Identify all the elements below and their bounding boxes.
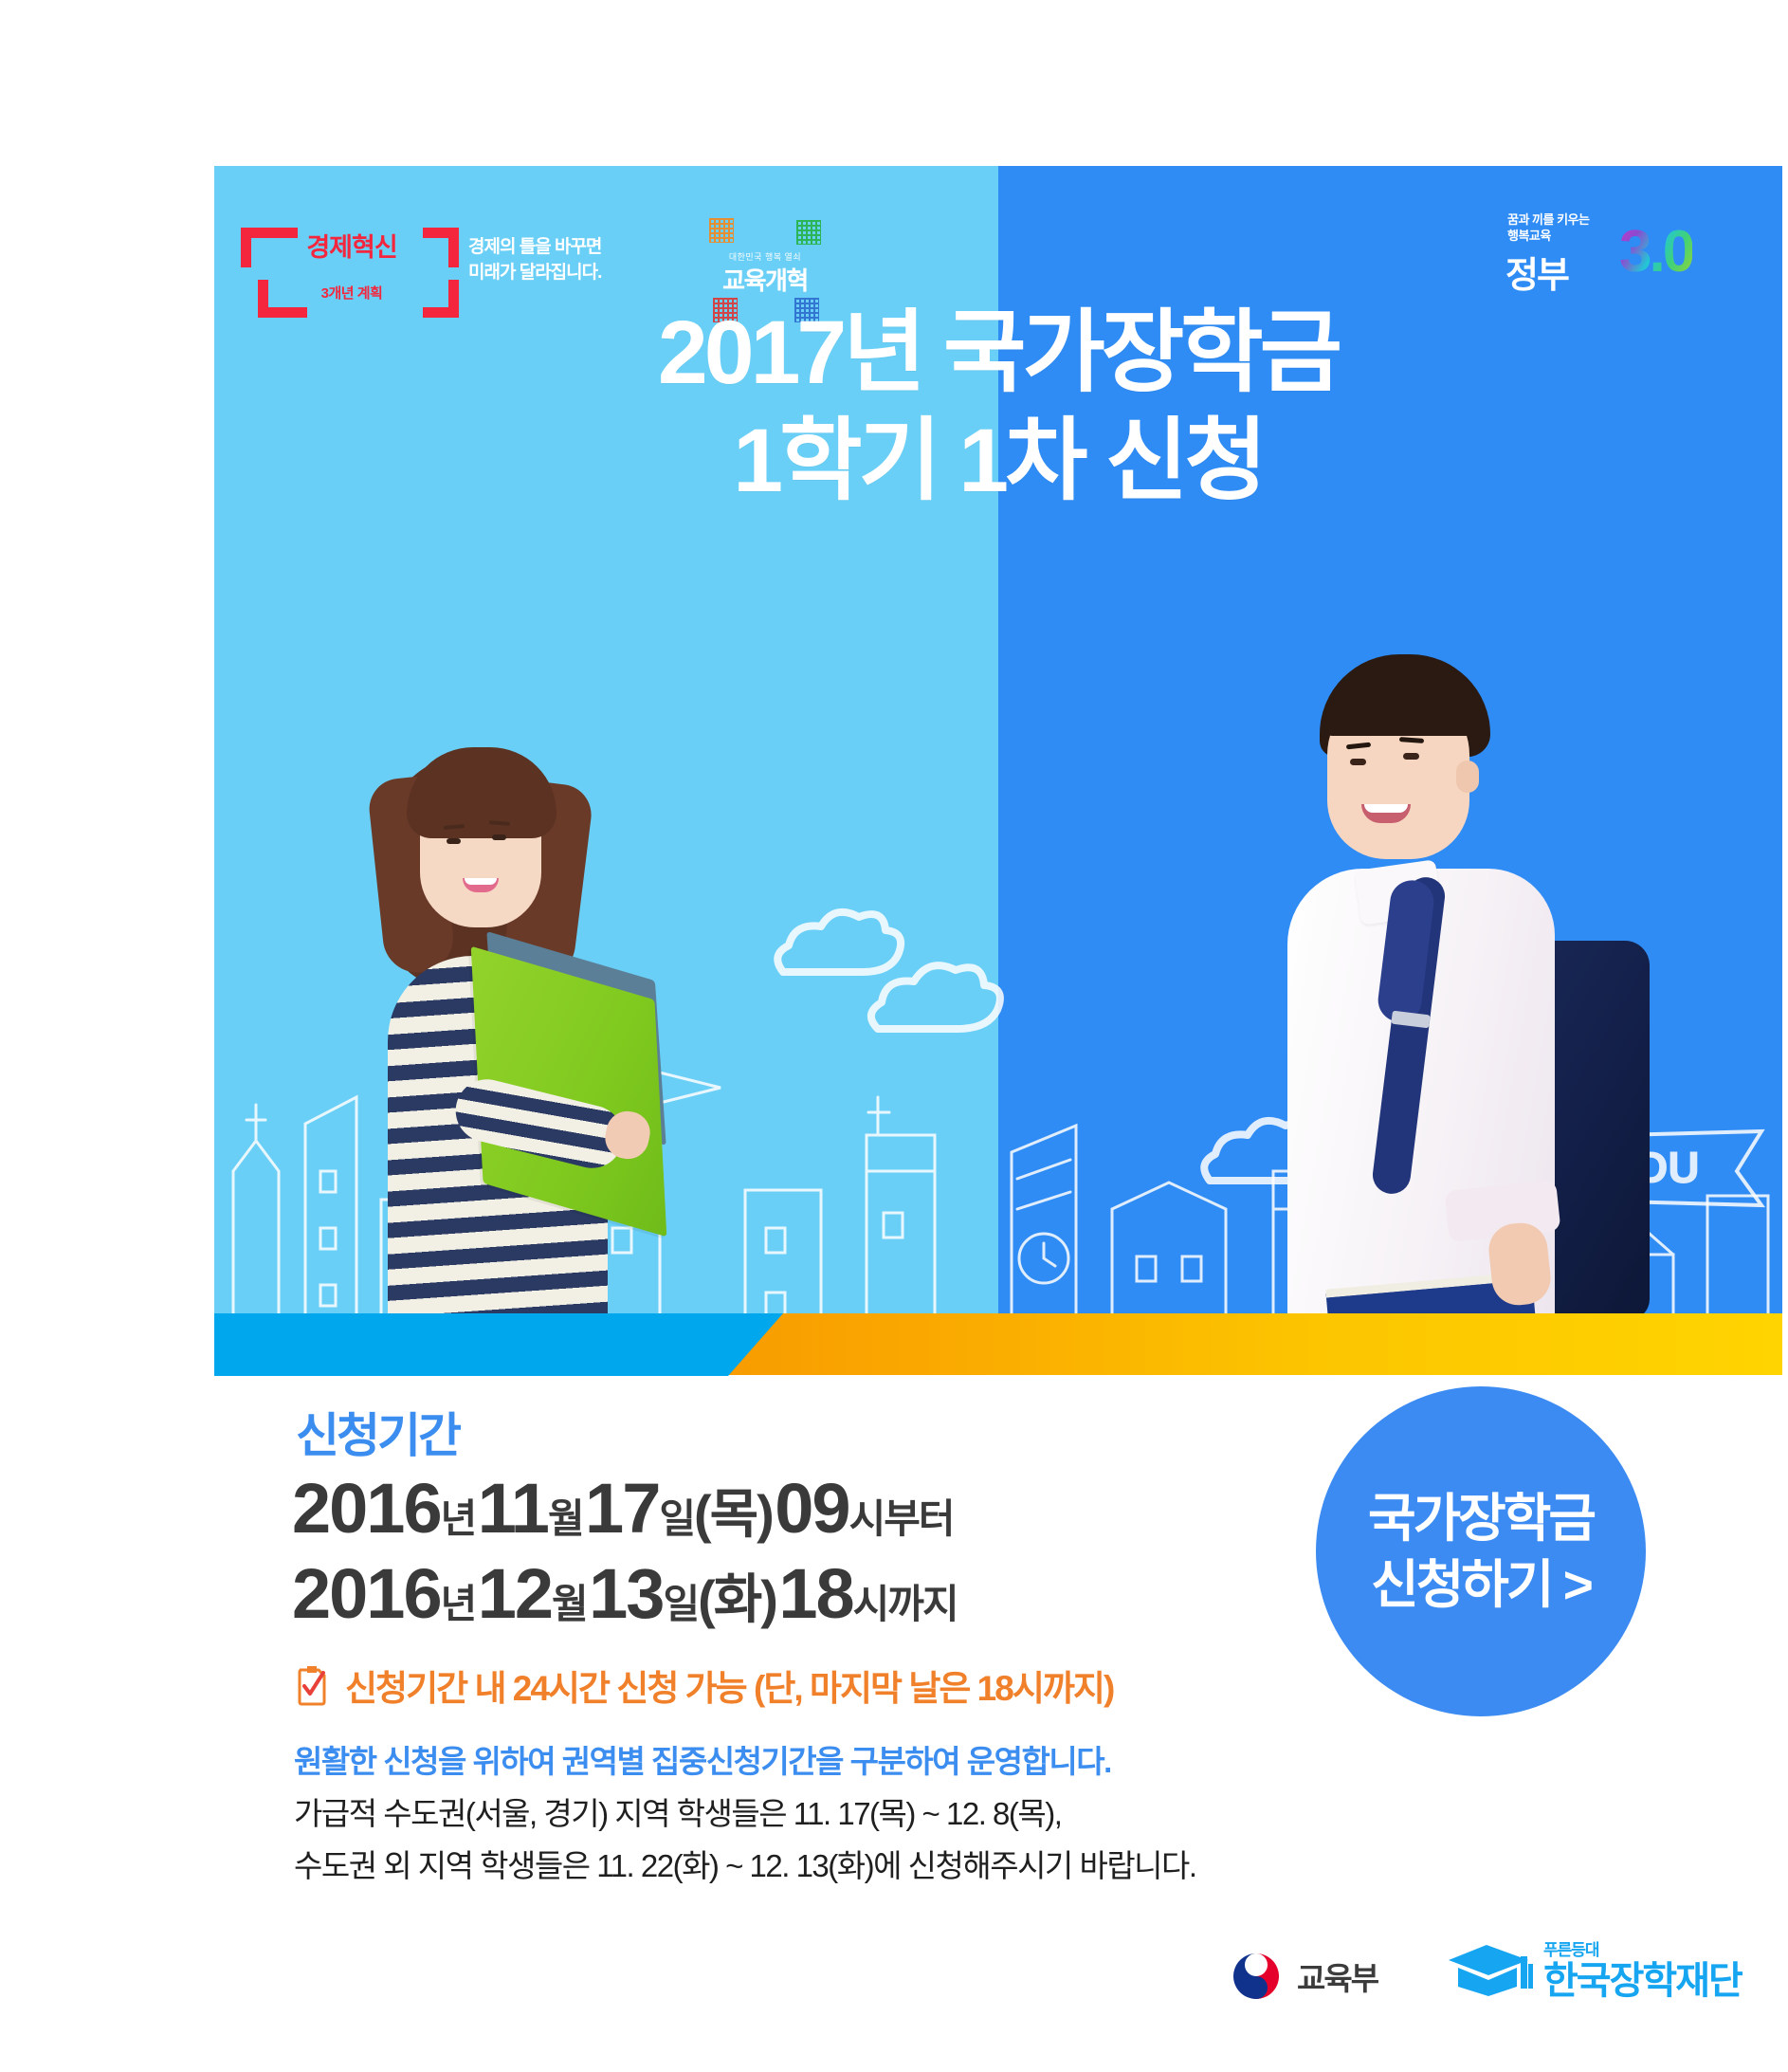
start-hour-suffix: 시부터 xyxy=(849,1496,954,1541)
end-weekday: (화) xyxy=(698,1569,776,1629)
edu-square-orange xyxy=(709,218,734,243)
end-hour-suffix: 시까지 xyxy=(853,1582,958,1626)
graduation-cap-icon xyxy=(1447,1941,1534,2000)
economy-logo-slogan: 경제의 틀을 바꾸면 미래가 달라집니다. xyxy=(468,234,601,285)
cta-line-2: 신청하기 > xyxy=(1371,1551,1591,1618)
start-year-unit: 년 xyxy=(441,1496,476,1541)
guidance-line-3: 수도권 외 지역 학생들은 11. 22(화) ~ 12. 13(화)에 신청해… xyxy=(294,1840,1196,1892)
student-photo-male xyxy=(1270,654,1678,1366)
gov-logo-version: 3.0 xyxy=(1619,223,1692,282)
start-hour: 09 xyxy=(775,1469,848,1548)
end-day: 13 xyxy=(589,1554,663,1633)
start-day: 17 xyxy=(585,1469,659,1548)
end-hour: 18 xyxy=(778,1554,852,1633)
headline-line-1: 2017년 국가장학금 xyxy=(658,303,1339,403)
end-year-unit: 년 xyxy=(441,1582,476,1626)
application-period-label: 신청기간 xyxy=(296,1398,459,1466)
application-start-date: 2016년 11월 17일(목) 09시부터 xyxy=(292,1468,954,1549)
application-end-date: 2016년 12월 13일(화) 18시까지 xyxy=(292,1553,958,1634)
end-month-unit: 월 xyxy=(552,1582,587,1626)
checklist-icon xyxy=(296,1664,328,1706)
start-day-unit: 일 xyxy=(659,1496,694,1541)
kosaf-logo: 푸른등대 한국장학재단 xyxy=(1447,1941,1742,2000)
availability-note-text: 신청기간 내 24시간 신청 가능 (단, 마지막 날은 18시까지) xyxy=(345,1659,1113,1711)
start-month-unit: 월 xyxy=(548,1496,583,1541)
taegeuk-icon xyxy=(1231,1951,1282,2002)
end-month: 12 xyxy=(478,1554,552,1633)
edu-logo-main: 교육개혁 xyxy=(709,262,821,297)
guidance-line-2: 가급적 수도권(서울, 경기) 지역 학생들은 11. 17(목) ~ 12. … xyxy=(294,1788,1196,1840)
end-year: 2016 xyxy=(292,1554,441,1633)
apply-scholarship-button[interactable]: 국가장학금 신청하기 > xyxy=(1316,1386,1646,1716)
edu-square-green xyxy=(796,220,821,245)
regional-guidance-paragraph: 원활한 신청을 위하여 권역별 집중신청기간을 구분하여 운영합니다. 가급적 … xyxy=(294,1735,1196,1892)
ministry-of-education-logo: 교육부 xyxy=(1231,1951,1377,2002)
end-day-unit: 일 xyxy=(663,1582,698,1626)
gov-logo-main: 정부 xyxy=(1505,246,1568,298)
start-weekday: (목) xyxy=(694,1484,773,1544)
student-photo-female xyxy=(333,740,674,1347)
poster-headline: 2017년 국가장학금 1학기 1차 신청 xyxy=(214,299,1782,515)
footer-logos: 교육부 푸른등대 한국장학재단 xyxy=(0,1939,1788,2044)
cyan-accent-stripe xyxy=(214,1313,783,1376)
start-year: 2016 xyxy=(292,1469,441,1548)
start-month: 11 xyxy=(478,1469,548,1548)
economy-logo-line1: 경제혁신 xyxy=(264,235,440,260)
availability-note: 신청기간 내 24시간 신청 가능 (단, 마지막 날은 18시까지) xyxy=(296,1659,1113,1711)
headline-line-2: 1학기 1차 신청 xyxy=(214,407,1782,515)
guidance-line-1: 원활한 신청을 위하여 권역별 집중신청기간을 구분하여 운영합니다. xyxy=(294,1735,1196,1788)
gov-logo-sub: 꿈과 끼를 키우는 행복교육 xyxy=(1507,211,1589,244)
cta-line-1: 국가장학금 xyxy=(1368,1485,1594,1551)
kosaf-sub-label: 푸른등대 xyxy=(1543,1942,1742,1958)
hero-banner: EDU 경제혁신 3개년 계획 경제의 틀을 바꾸면 미래가 달라집니다. 대한… xyxy=(214,166,1782,1375)
ministry-label: 교육부 xyxy=(1297,1953,1377,1999)
kosaf-main-label: 한국장학재단 xyxy=(1543,1962,1742,2000)
